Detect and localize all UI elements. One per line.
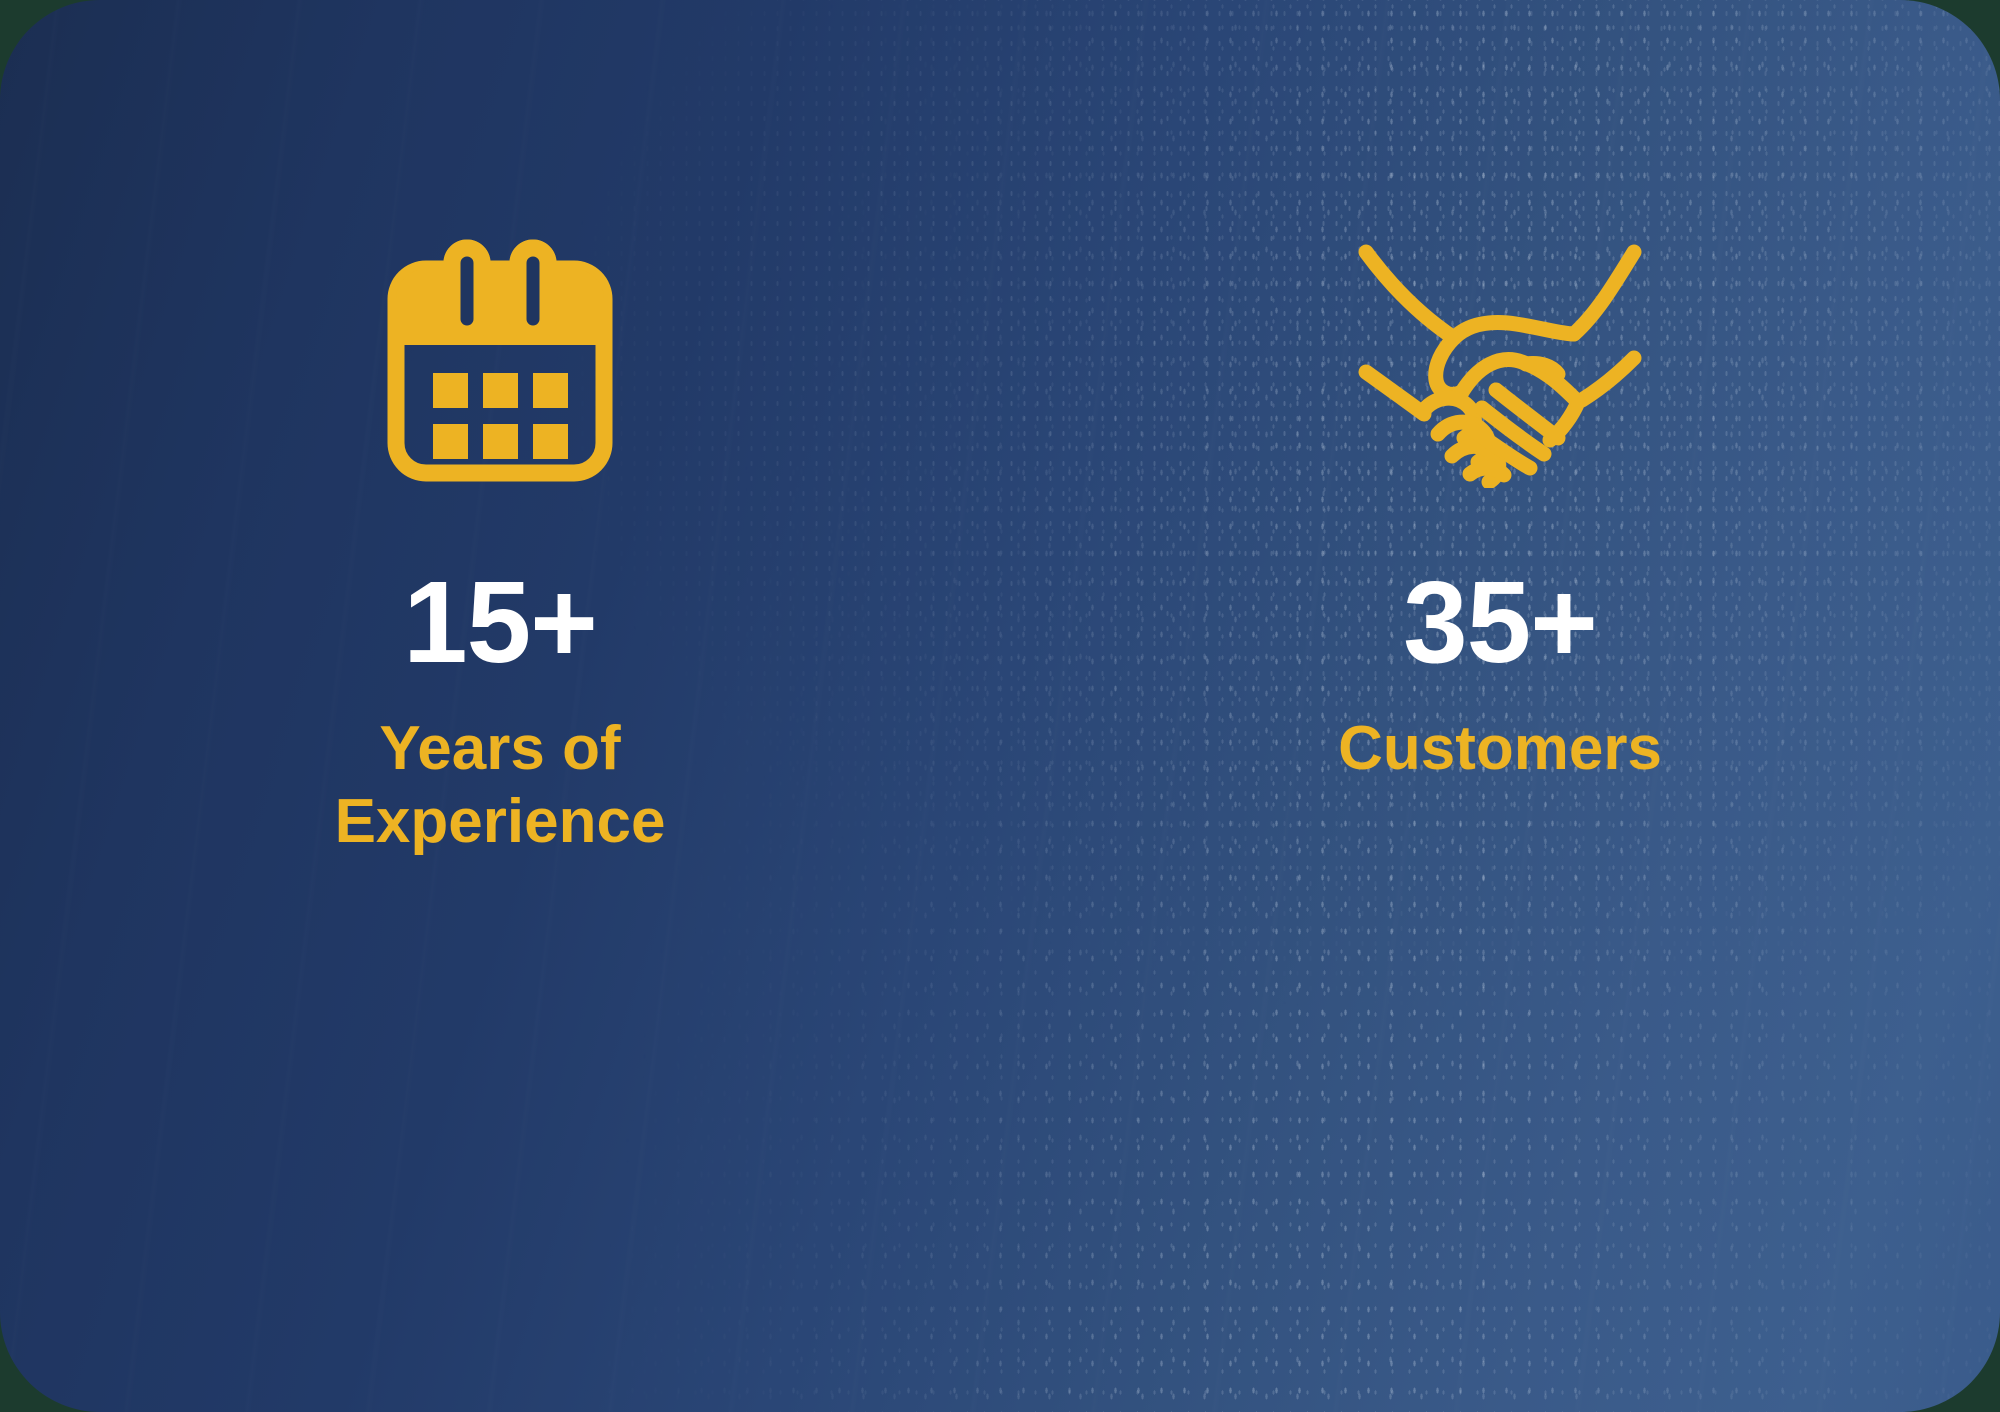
handshake-icon (1350, 238, 1650, 488)
stat-value-years: 15+ (403, 564, 597, 680)
stats-card: 15+ Years of Experience (0, 0, 2000, 1412)
calendar-icon (384, 238, 616, 488)
stat-label-years: Years of Experience (220, 712, 780, 858)
stat-label-customers: Customers (1338, 712, 1662, 785)
stat-item-years-of-experience: 15+ Years of Experience (0, 0, 1000, 858)
stat-icon-wrap-calendar (384, 238, 616, 488)
stats-grid: 15+ Years of Experience (0, 0, 2000, 1412)
stat-icon-wrap-handshake (1350, 238, 1650, 488)
stat-value-customers: 35+ (1403, 564, 1597, 680)
stat-item-customers: 35+ Customers (1000, 0, 2000, 785)
